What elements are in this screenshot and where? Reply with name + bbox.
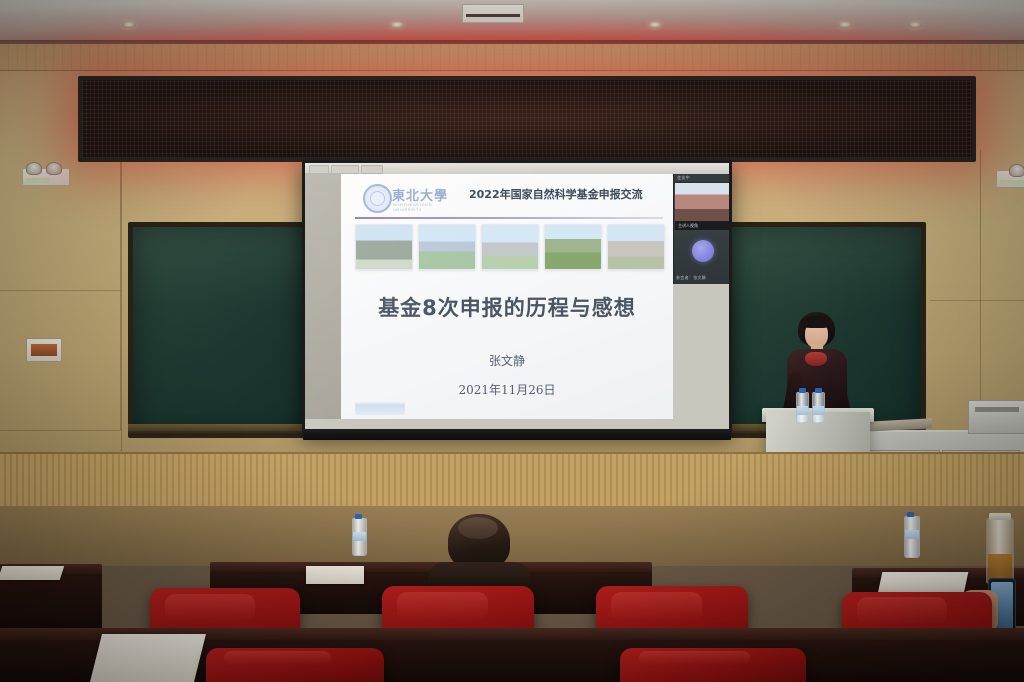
ceiling-spotlight [122,22,136,28]
chalkboard-left [128,222,316,438]
presenter-fringe [801,316,832,328]
led-banner-text: 2022年新能源与环境学院国家自然科学基金申报交流会 [82,80,972,158]
water-bottle [812,392,825,423]
chair-highlight [224,651,331,665]
flask-lid [989,513,1011,520]
presenter-scarf [805,352,827,366]
wall-slat-band [0,452,1024,506]
attendee-scalp [458,517,498,539]
ceiling-spotlight [908,22,922,28]
toolbar-chip[interactable] [361,165,383,174]
bottle-cap [815,388,822,393]
lamp-bulb-icon [46,162,62,175]
video-conference-panel[interactable]: 会议中 主讲人视角 参会者：张文静 [673,174,729,284]
participant-video-thumbnail[interactable] [675,183,729,221]
video-panel-title: 会议中 [677,175,690,181]
slide-title: 基金8次申报的历程与感想 [341,292,673,322]
chalk-rail-left [128,424,316,433]
table-left-face [0,574,102,634]
bottle-label [797,406,808,415]
bottle-label [813,406,824,415]
ceiling-spotlight [648,22,662,28]
chair-highlight [397,592,488,621]
water-bottle [904,516,920,558]
emergency-light-right [996,170,1024,188]
lamp-label [1000,180,1024,185]
lamp-bulb-icon [1009,164,1024,177]
water-bottle [796,392,809,423]
air-vent-icon [462,4,524,23]
ceiling-spotlight [390,22,404,28]
chair-highlight [611,592,702,621]
video-panel-footer: 参会者：张文静 [676,275,706,281]
meeting-app-sidebar[interactable] [305,173,341,419]
chair [620,648,806,682]
bottle-label [353,532,366,541]
campus-photo [607,224,665,270]
participant-thumbnail-label: 主讲人视角 [675,221,729,230]
led-banner: 2022年新能源与环境学院国家自然科学基金申报交流会 [78,76,976,162]
printer [968,400,1024,434]
water-bottle [352,518,367,556]
lamp-label [26,178,50,183]
bottle-cap [799,388,806,393]
tea-flask [986,518,1014,584]
projection-screen: 東北大學 NORTHEASTERN UNIVERSITY 2022年国家自然科学… [302,160,732,434]
university-seal-icon [363,184,392,213]
chair-highlight [639,651,751,665]
campus-photo [418,224,476,270]
chair [206,648,384,682]
paper-sheet [306,566,364,584]
wall-panel-seam [930,150,981,301]
paper-sheet [0,566,64,580]
slide-divider [355,217,663,219]
chair-highlight [165,594,255,622]
paper-sheet [90,634,206,682]
campus-photo [481,224,539,270]
wall-panel-seam [120,150,122,451]
campus-photo [355,224,413,270]
university-logo: 東北大學 NORTHEASTERN UNIVERSITY [363,182,459,212]
bottle-cap [355,514,362,519]
ceiling-spotlight [838,22,852,28]
conference-room-scene: 2022年新能源与环境学院国家自然科学基金申报交流会 東北大學 NORTHEAS… [0,0,1024,682]
fire-equipment-box [26,338,62,362]
bottle-cap [907,512,914,517]
presentation-slide: 東北大學 NORTHEASTERN UNIVERSITY 2022年国家自然科学… [341,174,673,419]
lamp-bulb-icon [26,162,42,175]
screen-bottom-bar [303,429,731,440]
chair-highlight [857,597,947,624]
participant-avatar[interactable] [692,240,714,262]
seated-attendee [424,514,534,588]
chalkboard-sheen [133,227,311,309]
projection-surface: 東北大學 NORTHEASTERN UNIVERSITY 2022年国家自然科学… [305,163,729,431]
slide-header: 2022年国家自然科学基金申报交流 [469,186,669,202]
emergency-light-left [22,168,70,186]
campus-photo-strip [355,224,665,270]
bottle-label [905,530,919,539]
campus-photo [544,224,602,270]
paper-sheet [878,572,969,594]
video-panel-titlebar: 会议中 [674,174,729,183]
slide-author: 张文静 [341,352,673,369]
chalkboard-sheen [725,227,921,309]
slide-watermark [355,393,405,415]
university-name-en: NORTHEASTERN UNIVERSITY [393,202,459,212]
